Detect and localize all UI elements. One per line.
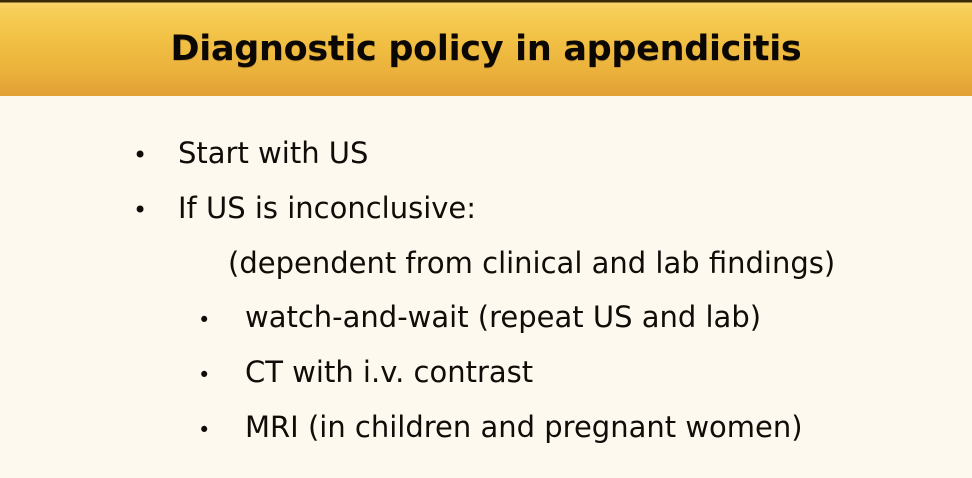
- note-dependent-findings: (dependent from clinical and lab finding…: [228, 246, 835, 280]
- slide-title-band: Diagnostic policy in appendicitis: [0, 0, 972, 96]
- sub-bullet-item-mri: •MRI (in children and pregnant women): [198, 410, 803, 447]
- bullet-marker-icon: •: [133, 138, 178, 172]
- slide-title: Diagnostic policy in appendicitis: [0, 27, 972, 71]
- sub-bullet-item-ct-contrast: •CT with i.v. contrast: [198, 355, 533, 392]
- bullet-label: Start with US: [178, 136, 368, 170]
- bullet-label: watch-and-wait (repeat US and lab): [245, 300, 761, 334]
- bullet-marker-icon: •: [198, 358, 245, 392]
- bullet-marker-icon: •: [198, 303, 245, 337]
- bullet-item-if-us-inconclusive: •If US is inconclusive:: [133, 191, 476, 227]
- bullet-label: MRI (in children and pregnant women): [245, 410, 803, 444]
- bullet-marker-icon: •: [198, 413, 245, 447]
- note-label: (dependent from clinical and lab finding…: [228, 246, 835, 280]
- bullet-marker-icon: •: [133, 193, 178, 227]
- bullet-label: If US is inconclusive:: [178, 191, 476, 225]
- presentation-slide: Diagnostic policy in appendicitis •Start…: [0, 0, 972, 478]
- slide-body: •Start with US •If US is inconclusive: (…: [0, 96, 972, 478]
- sub-bullet-item-watch-and-wait: •watch-and-wait (repeat US and lab): [198, 300, 761, 337]
- bullet-label: CT with i.v. contrast: [245, 355, 533, 389]
- bullet-item-start-with-us: •Start with US: [133, 136, 368, 172]
